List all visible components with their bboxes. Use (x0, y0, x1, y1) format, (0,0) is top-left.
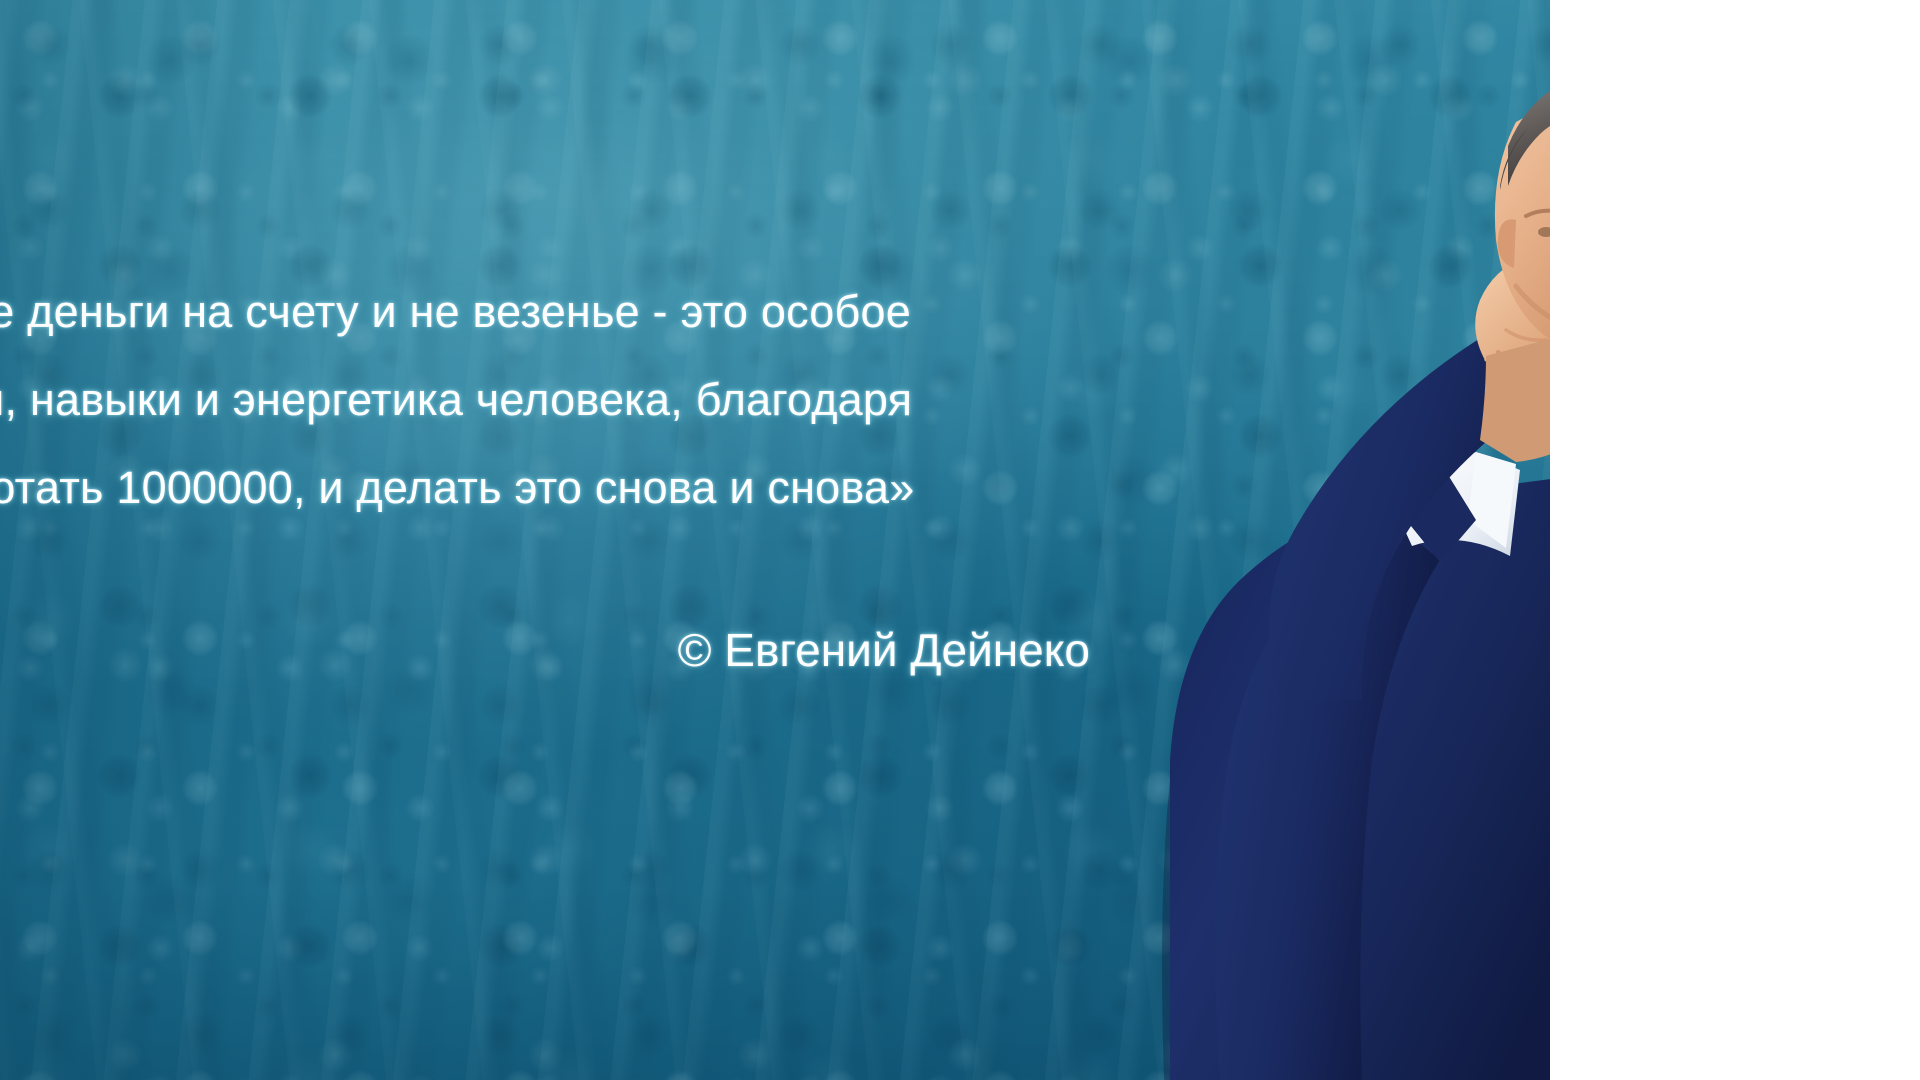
quote-line-1: то не деньги на счету и не везенье - это… (0, 268, 1120, 356)
banner-stage: то не деньги на счету и не везенье - это… (0, 0, 1920, 1080)
quote-text-block: то не деньги на счету и не везенье - это… (0, 268, 1120, 532)
promo-banner: то не деньги на счету и не везенье - это… (0, 0, 1920, 1080)
author-signature: © Евгений Дейнеко (0, 620, 1090, 680)
quote-line-3: работать 1000000, и делать это снова и с… (0, 444, 1120, 532)
quote-line-2: егии, навыки и энергетика человека, благ… (0, 356, 1120, 444)
right-white-margin (1550, 0, 1920, 1080)
